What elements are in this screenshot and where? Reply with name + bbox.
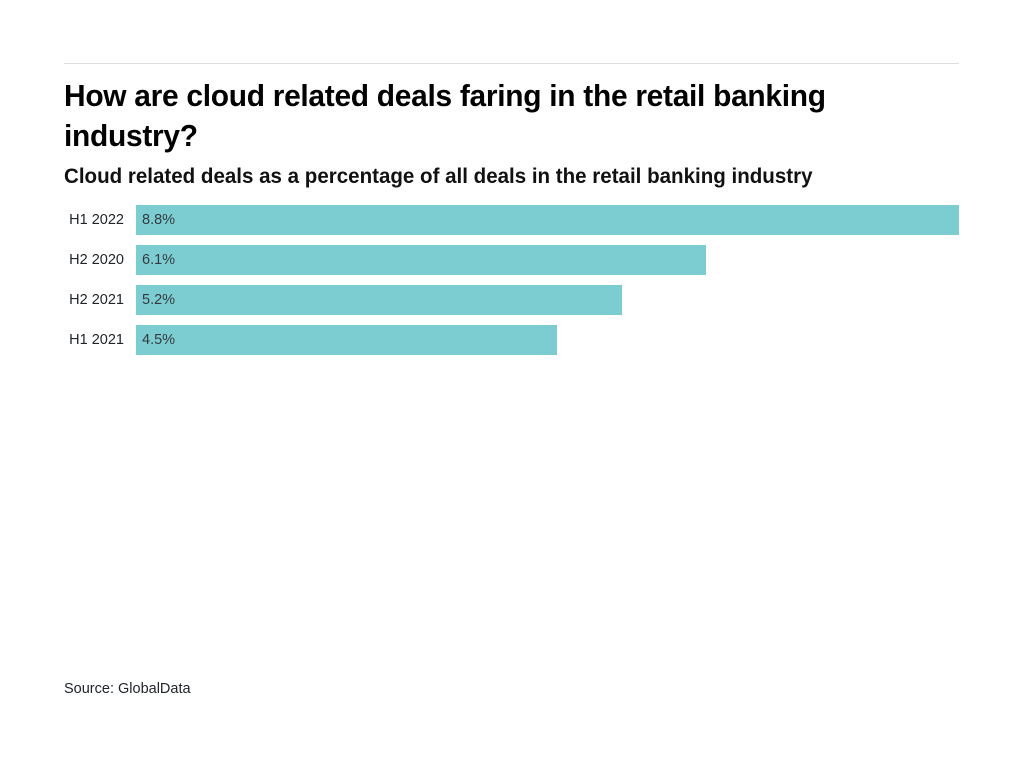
bar-row: H1 2021 4.5% — [0, 325, 1024, 355]
bar-fill: 8.8% — [136, 205, 959, 235]
bar-category-label: H2 2021 — [0, 285, 124, 315]
chart-title: How are cloud related deals faring in th… — [64, 76, 937, 155]
header-divider — [64, 63, 959, 64]
bar-row: H2 2021 5.2% — [0, 285, 1024, 315]
bar-value-label: 4.5% — [142, 325, 175, 355]
bar-category-label: H1 2022 — [0, 205, 124, 235]
bar-fill: 5.2% — [136, 285, 622, 315]
bar-fill: 6.1% — [136, 245, 706, 275]
bar-row: H2 2020 6.1% — [0, 245, 1024, 275]
bar-track: 6.1% — [136, 245, 1024, 275]
bar-track: 8.8% — [136, 205, 1024, 235]
bar-track: 4.5% — [136, 325, 1024, 355]
chart-figure: How are cloud related deals faring in th… — [0, 0, 1024, 768]
bar-row: H1 2022 8.8% — [0, 205, 1024, 235]
bar-category-label: H2 2020 — [0, 245, 124, 275]
bar-category-label: H1 2021 — [0, 325, 124, 355]
chart-header: How are cloud related deals faring in th… — [64, 76, 969, 190]
bar-value-label: 5.2% — [142, 285, 175, 315]
bar-value-label: 6.1% — [142, 245, 175, 275]
source-attribution: Source: GlobalData — [64, 681, 191, 697]
bar-chart-plot-area: H1 2022 8.8% H2 2020 6.1% H2 2021 5.2% — [0, 205, 1024, 365]
bar-track: 5.2% — [136, 285, 1024, 315]
bar-value-label: 8.8% — [142, 205, 175, 235]
chart-subtitle: Cloud related deals as a percentage of a… — [64, 164, 928, 190]
bar-fill: 4.5% — [136, 325, 557, 355]
